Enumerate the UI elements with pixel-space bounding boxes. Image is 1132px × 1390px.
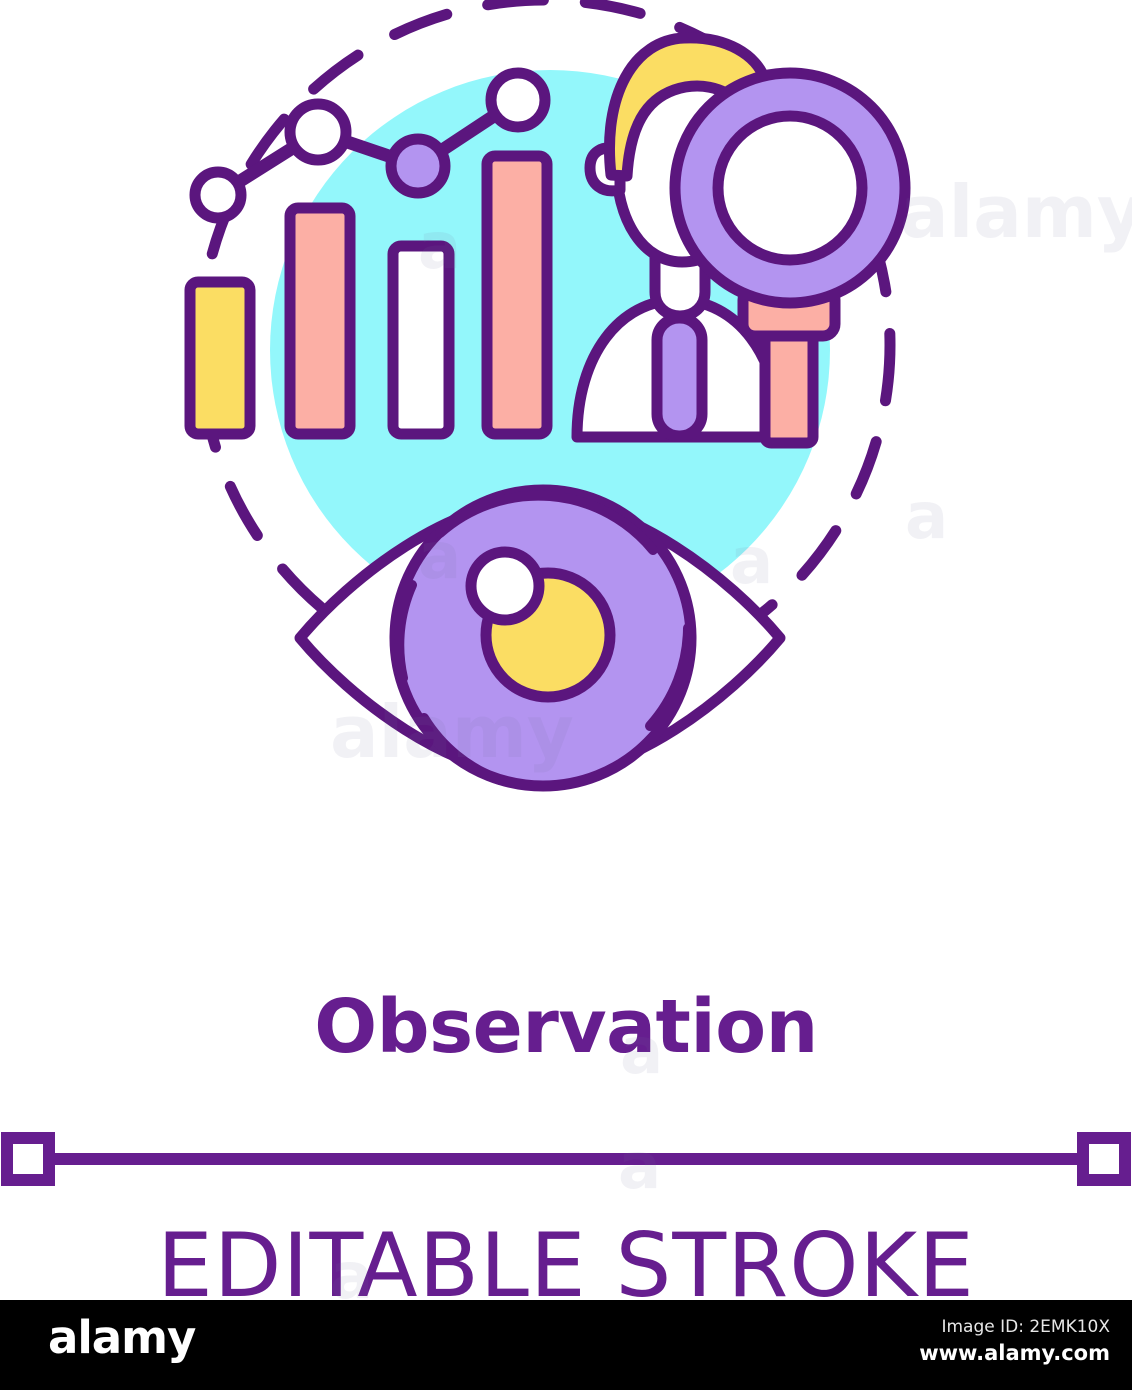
icon-canvas: Observation EDITABLE STROKE alamy Image … [0,0,1132,1390]
left-square-handle[interactable] [7,1138,49,1180]
footer-meta: Image ID: 2EMK10X www.alamy.com [919,1316,1110,1367]
line-marker-1 [195,172,241,218]
bar-2 [290,208,350,434]
editable-stroke-label: EDITABLE STROKE [0,1222,1132,1310]
line-marker-4 [491,73,545,127]
line-marker-3 [391,139,445,193]
right-square-handle[interactable] [1083,1138,1125,1180]
bar-4 [487,156,547,434]
stroke-width-indicator [0,1128,1132,1190]
person-tie [657,318,702,436]
alamy-url-text: www.alamy.com [919,1339,1110,1367]
magnifier-lens [718,116,862,260]
alamy-footer-bar: alamy Image ID: 2EMK10X www.alamy.com [0,1300,1132,1390]
image-id-text: Image ID: 2EMK10X [919,1316,1110,1339]
observation-concept-illustration [150,0,990,840]
concept-title: Observation [0,990,1132,1064]
bar-3 [393,246,449,434]
bar-1 [190,282,250,434]
eye-highlight [471,552,539,620]
line-marker-2 [290,104,346,160]
alamy-logo: alamy [48,1315,195,1360]
